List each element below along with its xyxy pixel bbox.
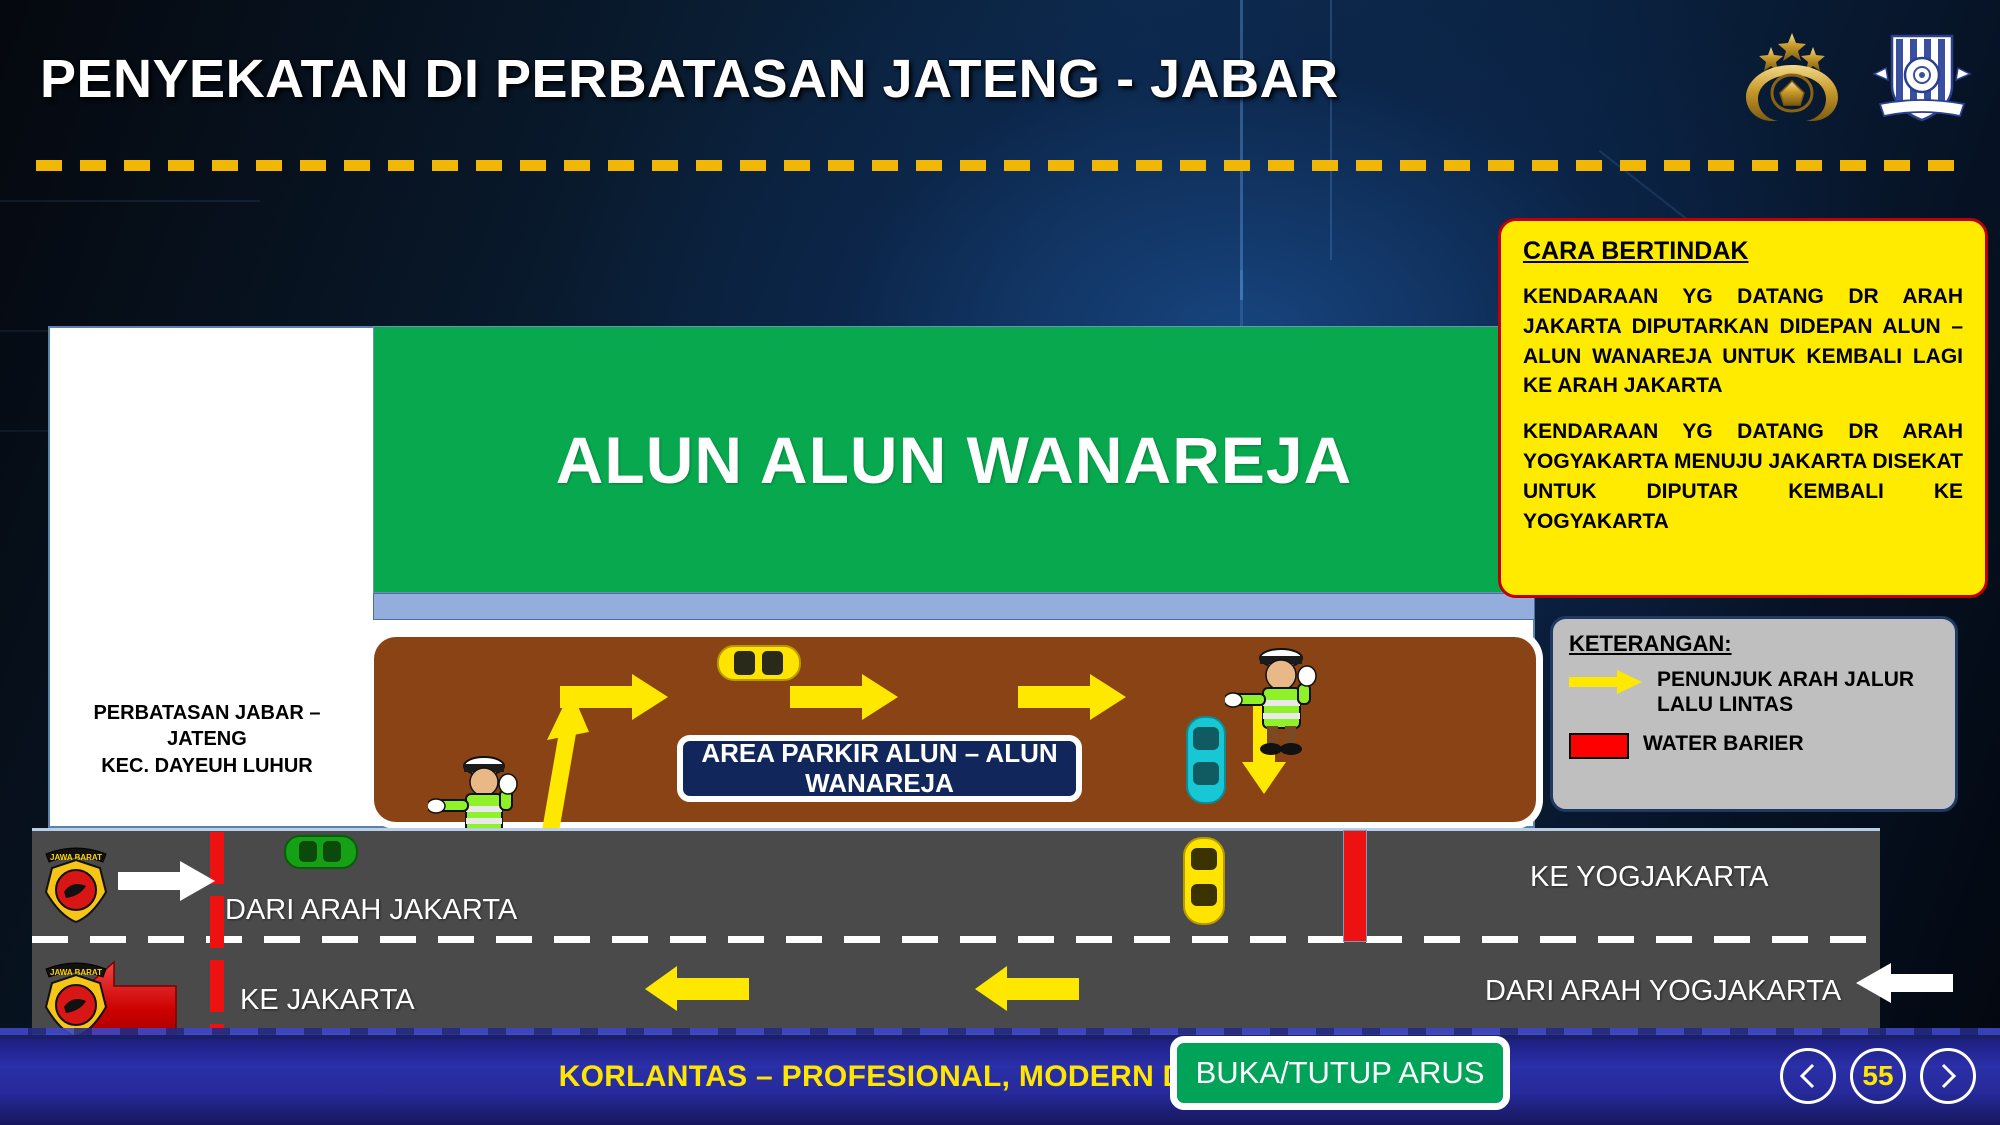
page-number-badge: 55 (1850, 1048, 1906, 1104)
direction-arrow-right-icon (790, 672, 900, 722)
entry-arrow-left-icon (1855, 962, 1953, 1004)
logo-group (1738, 30, 1972, 129)
background-streak (1240, 0, 1243, 300)
road-label-from-yogyakarta: DARI ARAH YOGJAKARTA (1485, 975, 1841, 1008)
alun-alun-green-area: ALUN ALUN WANAREJA (373, 326, 1535, 593)
parking-area-sign: AREA PARKIR ALUN – ALUN WANAREJA (677, 735, 1082, 802)
page-title: PENYEKATAN DI PERBATASAN JATENG - JABAR (40, 48, 1339, 110)
korlantas-emblem-logo (1872, 30, 1972, 129)
legend-item: WATER BARIER (1569, 731, 1939, 759)
road-center-line (32, 936, 1880, 943)
cara-bertindak-box: CARA BERTINDAK KENDARAAN YG DATANG DR AR… (1498, 218, 1988, 598)
direction-arrow-left-icon (975, 965, 1079, 1013)
cara-bertindak-title: CARA BERTINDAK (1523, 237, 1963, 266)
border-label-line-2: KEC. DAYEUH LUHUR (52, 753, 362, 779)
jawa-barat-badge-icon: JAWA BARAT (40, 840, 112, 924)
parking-sign-line-2: WANAREJA (805, 769, 954, 798)
slide-root: PENYEKATAN DI PERBATASAN JATENG - JABAR (0, 0, 2000, 1125)
direction-arrow-left-icon (645, 965, 749, 1013)
traffic-officer-icon (1225, 640, 1337, 755)
car-teal-icon (1183, 714, 1229, 806)
prev-slide-button[interactable] (1780, 1048, 1836, 1104)
chevron-right-icon (1938, 1062, 1958, 1090)
title-divider (36, 160, 1964, 171)
next-slide-button[interactable] (1920, 1048, 1976, 1104)
legend-title: KETERANGAN: (1569, 631, 1939, 657)
water-barrier-right (1343, 830, 1367, 942)
background-streak (0, 200, 260, 202)
buka-tutup-arus-callout: BUKA/TUTUP ARUS (1170, 1036, 1510, 1110)
direction-arrow-right-icon (1018, 672, 1128, 722)
cara-bertindak-paragraph: KENDARAAN YG DATANG DR ARAH JAKARTA DIPU… (1523, 282, 1963, 401)
road-label-to-jakarta: KE JAKARTA (240, 984, 415, 1017)
background-streak (1330, 0, 1332, 260)
border-label-line-1: PERBATASAN JABAR – JATENG (52, 700, 362, 753)
sidewalk-strip (373, 593, 1535, 620)
slide-navigation[interactable]: 55 (1780, 1048, 1976, 1104)
parking-sign-line-1: AREA PARKIR ALUN – ALUN (701, 739, 1057, 768)
legend-item-label: WATER BARIER (1643, 731, 1804, 756)
legend-item: PENUNJUK ARAH JALUR LALU LINTAS (1569, 667, 1939, 717)
yellow-arrow-icon (1569, 669, 1643, 695)
jawa-barat-badge-icon: JAWA BARAT (40, 955, 112, 1039)
cara-bertindak-paragraph: KENDARAAN YG DATANG DR ARAH YOGYAKARTA M… (1523, 417, 1963, 536)
car-green-icon (282, 830, 360, 874)
legend-box: KETERANGAN: PENUNJUK ARAH JALUR LALU LIN… (1550, 616, 1958, 812)
car-yellow-icon (715, 637, 803, 689)
polri-emblem-logo (1738, 31, 1846, 128)
road-label-to-yogyakarta: KE YOGJAKARTA (1530, 861, 1769, 894)
footer-tagline: KORLANTAS – PROFESIONAL, MODERN DAN TERP… (0, 1060, 2000, 1094)
car-yellow-road-icon (1180, 835, 1228, 927)
alun-alun-label: ALUN ALUN WANAREJA (556, 422, 1353, 498)
red-bar-icon (1569, 733, 1629, 759)
border-location-label: PERBATASAN JABAR – JATENG KEC. DAYEUH LU… (52, 700, 362, 779)
chevron-left-icon (1798, 1062, 1818, 1090)
entry-arrow-right-icon (118, 860, 216, 902)
road-label-from-jakarta: DARI ARAH JAKARTA (225, 894, 517, 927)
legend-item-label: PENUNJUK ARAH JALUR LALU LINTAS (1657, 667, 1939, 717)
